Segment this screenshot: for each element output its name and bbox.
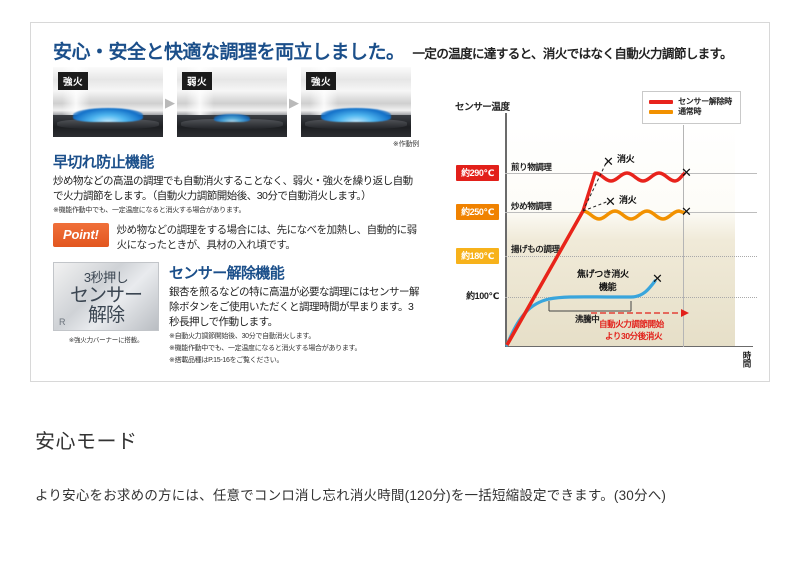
- section-body-sensor-release: 銀杏を煎るなどの特に高温が必要な調理にはセンサー解除ボタンをご使用いただくと調理…: [169, 285, 421, 330]
- section-note-early-cutoff: ※機能作動中でも、一定温度になると消火する場合があります。: [53, 206, 421, 216]
- arrow-right-icon: ▶: [163, 96, 177, 109]
- stove-thumbnail: 強火: [53, 67, 163, 137]
- arrow-right-icon: ▶: [287, 96, 301, 109]
- legend-swatch-sensor-off: [649, 100, 673, 104]
- thumbnail-note: ※作動例: [53, 139, 421, 149]
- flame-level-tag: 強火: [306, 72, 336, 90]
- headline-main: 安心・安全と快適な調理を両立しました。: [53, 42, 405, 63]
- sensor-button-line2a: センサー: [56, 286, 156, 306]
- flame-level-tag: 強火: [58, 72, 88, 90]
- chart-x-axis-label: 時間: [741, 351, 753, 367]
- section-title-early-cutoff: 早切れ防止機能: [53, 151, 421, 172]
- sensor-button-line1: 3秒押し: [56, 267, 156, 286]
- left-column: 強火 ▶ 弱火 ▶ 強火 ※作動例 早切れ防止機能 炒め物などの高温の調理でも自…: [53, 67, 421, 366]
- bracket-boiling: [549, 301, 631, 311]
- point-callout: Point! 炒め物などの調理をする場合には、先になべを加熱し、自動的に弱火にな…: [53, 223, 421, 252]
- point-text: 炒め物などの調理をする場合には、先になべを加熱し、自動的に弱火になったときが、具…: [117, 223, 421, 252]
- point-badge: Point!: [53, 223, 109, 247]
- chart-y-axis-label: センサー温度: [455, 99, 510, 113]
- sensor-release-button-image: 3秒押し センサー 解除 R ※強火力バーナーに搭載。: [53, 262, 159, 366]
- bottom-section: 安心モード より安心をお求めの方には、任意でコンロ消し忘れ消火時間(120分)を…: [35, 425, 765, 508]
- legend-label-normal: 通常時: [678, 108, 701, 116]
- flame-icon: [214, 114, 249, 122]
- temp-badge-290: 約290℃: [456, 165, 499, 181]
- flame-level-tag: 弱火: [182, 72, 212, 90]
- legend-item: センサー解除時: [649, 98, 732, 106]
- annotation-30min-line1: 自動火力調節開始: [599, 319, 664, 330]
- marker-x-normal-end: ✕: [681, 205, 691, 218]
- section-title-sensor-release: センサー解除機能: [169, 262, 421, 283]
- chart-plot-area: 煎り物調理 炒め物調理 揚げもの調理 ✕: [505, 125, 735, 347]
- stove-thumbnail: 強火: [301, 67, 411, 137]
- callout-burn-protect-line2: 機能: [599, 280, 616, 293]
- bottom-paragraph: より安心をお求めの方には、任意でコンロ消し忘れ消火時間(120分)を一括短縮設定…: [35, 484, 765, 508]
- flame-icon: [321, 108, 391, 122]
- legend-label-sensor-off: センサー解除時: [678, 98, 732, 106]
- temp-label-100: 約100℃: [466, 289, 499, 302]
- sensor-button-line2b: 解除: [56, 306, 156, 326]
- catalogue-panel: 安心・安全と快適な調理を両立しました。一定の温度に達すると、消火ではなく自動火力…: [30, 22, 770, 382]
- stove-thumbnail: 弱火: [177, 67, 287, 137]
- chart-y-ticks: 約290℃ 約250℃ 約180℃ 約100℃: [433, 125, 499, 347]
- marker-x-callout-red: ✕: [603, 155, 613, 168]
- marker-x-sensor-off-end: ✕: [681, 166, 691, 179]
- registered-mark: R: [59, 317, 66, 327]
- panel-headline: 安心・安全と快適な調理を両立しました。一定の温度に達すると、消火ではなく自動火力…: [53, 37, 732, 64]
- sensor-note-1: ※自動火力調節開始後、30分で自動消火します。: [169, 332, 421, 342]
- legend-swatch-normal: [649, 110, 673, 114]
- sensor-release-block: 3秒押し センサー 解除 R ※強火力バーナーに搭載。 センサー解除機能 銀杏を…: [53, 262, 421, 366]
- temp-badge-250: 約250℃: [456, 204, 499, 220]
- flame-icon: [73, 108, 143, 122]
- callout-extinguish-red: 消火: [617, 152, 634, 165]
- label-boiling: 沸騰中: [575, 313, 599, 325]
- temperature-chart: センサー温度 センサー解除時 通常時 約290℃ 約250℃ 約180℃ 約10…: [433, 73, 755, 373]
- sensor-button-caption: ※強火力バーナーに搭載。: [53, 334, 159, 344]
- headline-sub: 一定の温度に達すると、消火ではなく自動火力調節します。: [413, 47, 733, 61]
- callout-burn-protect-line1: 焦げつき消火: [577, 267, 629, 280]
- sensor-release-text: センサー解除機能 銀杏を煎るなどの特に高温が必要な調理にはセンサー解除ボタンをご…: [169, 262, 421, 366]
- callout-extinguish-orange: 消火: [619, 193, 636, 206]
- sensor-note-3: ※搭載品種はP.15-16をご覧ください。: [169, 356, 421, 366]
- marker-x-burn-protect: ✕: [652, 272, 662, 285]
- bottom-heading: 安心モード: [35, 425, 765, 454]
- arrow-30min-head: [681, 309, 689, 317]
- stove-thumbnail-row: 強火 ▶ 弱火 ▶ 強火: [53, 67, 421, 137]
- temp-badge-180: 約180℃: [456, 248, 499, 264]
- chart-legend: センサー解除時 通常時: [642, 91, 741, 124]
- legend-item: 通常時: [649, 108, 732, 116]
- sensor-note-2: ※機能作動中でも、一定温度になると消火する場合があります。: [169, 344, 421, 354]
- sensor-button-plate: 3秒押し センサー 解除 R: [53, 262, 159, 331]
- section-body-early-cutoff: 炒め物などの高温の調理でも自動消火することなく、弱火・強火を繰り返し自動で火力調…: [53, 174, 421, 204]
- annotation-30min-line2: より30分後消火: [605, 331, 662, 342]
- marker-x-callout-orange: ✕: [605, 195, 615, 208]
